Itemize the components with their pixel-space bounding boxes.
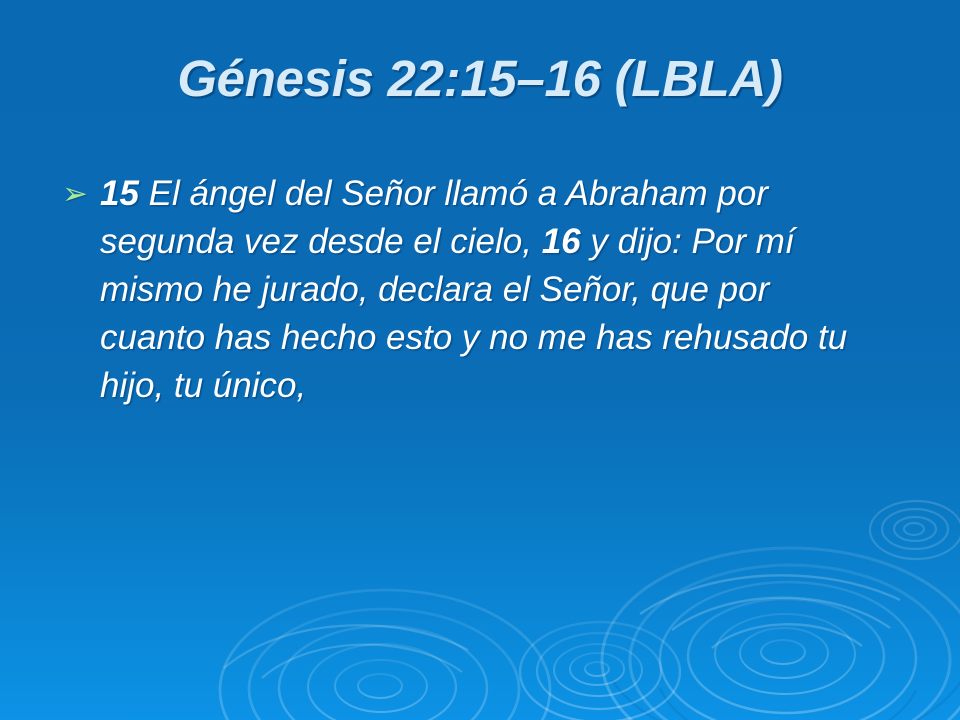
scripture-passage-text: 15 El ángel del Señor llamó a Abraham po… — [100, 170, 852, 410]
ripple-large-right — [602, 548, 960, 720]
ripple-small-center — [520, 622, 680, 720]
ripple-large-right-shadow — [612, 680, 960, 720]
arrowhead-bullet-icon: ➢ — [62, 170, 100, 218]
verse-number-15: 15 — [100, 174, 139, 213]
verse-number-16: 16 — [542, 222, 581, 261]
ripple-medium-left — [220, 590, 550, 720]
bullet-list-item: ➢ 15 El ángel del Señor llamó a Abraham … — [62, 170, 902, 410]
slide-title-text: Génesis 22:15–16 (LBLA) — [177, 52, 782, 106]
slide-canvas: Génesis 22:15–16 (LBLA) ➢ 15 El ángel de… — [0, 0, 960, 720]
ripple-medium-left-highlight — [224, 625, 468, 678]
ripple-tiny-topright — [870, 501, 960, 559]
ripple-large-right-highlight — [640, 575, 900, 648]
slide-title: Génesis 22:15–16 (LBLA) — [0, 52, 960, 106]
slide-body: ➢ 15 El ángel del Señor llamó a Abraham … — [62, 170, 902, 410]
